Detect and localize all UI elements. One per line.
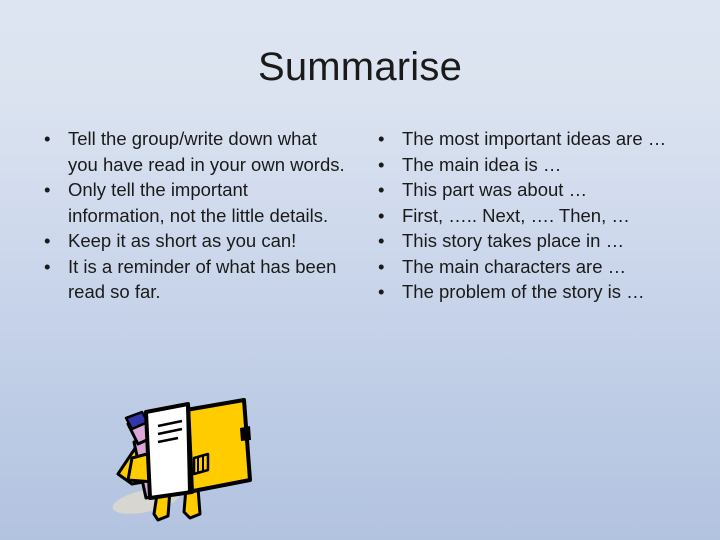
list-item-label: The problem of the story is … [402, 279, 684, 305]
list-item-label: The most important ideas are … [402, 126, 684, 152]
list-item: • Tell the group/write down what you hav… [38, 126, 348, 177]
list-item-label: First, ….. Next, …. Then, … [402, 203, 684, 229]
list-item-label: Only tell the important information, not… [68, 177, 348, 228]
reading-person-illustration [108, 388, 278, 540]
list-item-label: It is a reminder of what has been read s… [68, 254, 348, 305]
page-title: Summarise [0, 44, 720, 90]
bullet-icon: • [378, 152, 392, 178]
clipart-book-cover [186, 400, 250, 492]
bullet-icon: • [378, 228, 392, 254]
bullet-list-left: • Tell the group/write down what you hav… [38, 126, 348, 305]
list-item: • The problem of the story is … [372, 279, 684, 305]
bullet-icon: • [44, 126, 58, 152]
clipart-book-page [146, 404, 192, 498]
bullet-icon: • [44, 228, 58, 254]
list-item: • Only tell the important information, n… [38, 177, 348, 228]
bullet-icon: • [44, 177, 58, 203]
bullet-icon: • [44, 254, 58, 280]
clipart-fingers [194, 454, 208, 474]
bullet-icon: • [378, 203, 392, 229]
list-item: • The main characters are … [372, 254, 684, 280]
list-item-label: The main idea is … [402, 152, 684, 178]
bullet-list-right: • The most important ideas are … • The m… [372, 126, 684, 305]
clipart-book-spine [188, 404, 190, 492]
list-item: • It is a reminder of what has been read… [38, 254, 348, 305]
list-item-label: Keep it as short as you can! [68, 228, 348, 254]
list-item: • This story takes place in … [372, 228, 684, 254]
list-item-label: Tell the group/write down what you have … [68, 126, 348, 177]
bullet-icon: • [378, 177, 392, 203]
list-item: • The main idea is … [372, 152, 684, 178]
list-item-label: The main characters are … [402, 254, 684, 280]
bullet-icon: • [378, 254, 392, 280]
list-item: • This part was about … [372, 177, 684, 203]
clipart-thumb [240, 426, 251, 441]
list-item: • The most important ideas are … [372, 126, 684, 152]
list-item-label: This story takes place in … [402, 228, 684, 254]
bullet-icon: • [378, 279, 392, 305]
list-item: • Keep it as short as you can! [38, 228, 348, 254]
list-item: • First, ….. Next, …. Then, … [372, 203, 684, 229]
bullet-icon: • [378, 126, 392, 152]
list-item-label: This part was about … [402, 177, 684, 203]
slide-canvas: Summarise • Tell the group/write down wh… [0, 0, 720, 540]
